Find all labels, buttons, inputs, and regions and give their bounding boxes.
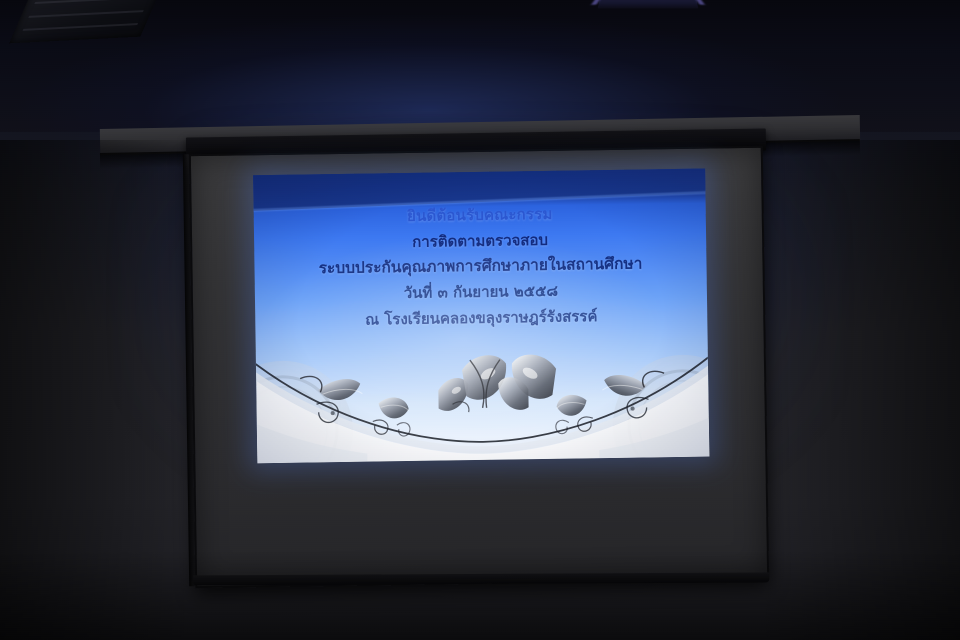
projection-screen[interactable]: ยินดีต้อนรับคณะกรรม การติดตามตรวจสอบ ระบ… <box>175 138 774 597</box>
floral-leaf-border <box>256 339 710 464</box>
room-scene: ยินดีต้อนรับคณะกรรม การติดตามตรวจสอบ ระบ… <box>0 0 960 640</box>
floral-leaf-border-svg <box>256 339 710 464</box>
screen-surface: ยินดีต้อนรับคณะกรรม การติดตามตรวจสอบ ระบ… <box>189 146 769 588</box>
slide-line-date: วันที่ ๓ กันยายน ๒๕๕๘ <box>255 280 707 305</box>
slide-text-block: ยินดีต้อนรับคณะกรรม การติดตามตรวจสอบ ระบ… <box>254 203 708 331</box>
recessed-ceiling-light-icon <box>598 0 699 9</box>
slide-line-subject-1: การติดตามตรวจสอบ <box>254 228 706 253</box>
projected-slide: ยินดีต้อนรับคณะกรรม การติดตามตรวจสอบ ระบ… <box>253 169 709 464</box>
bottom-shadow <box>0 550 960 640</box>
slide-line-venue: ณ โรงเรียนคลองขลุงราษฎร์รังสรรค์ <box>255 306 707 331</box>
ceiling-air-vent-icon <box>9 0 163 43</box>
ceiling <box>0 0 960 132</box>
slide-line-subject-2: ระบบประกันคุณภาพการศึกษาภายในสถานศึกษา <box>254 254 706 280</box>
